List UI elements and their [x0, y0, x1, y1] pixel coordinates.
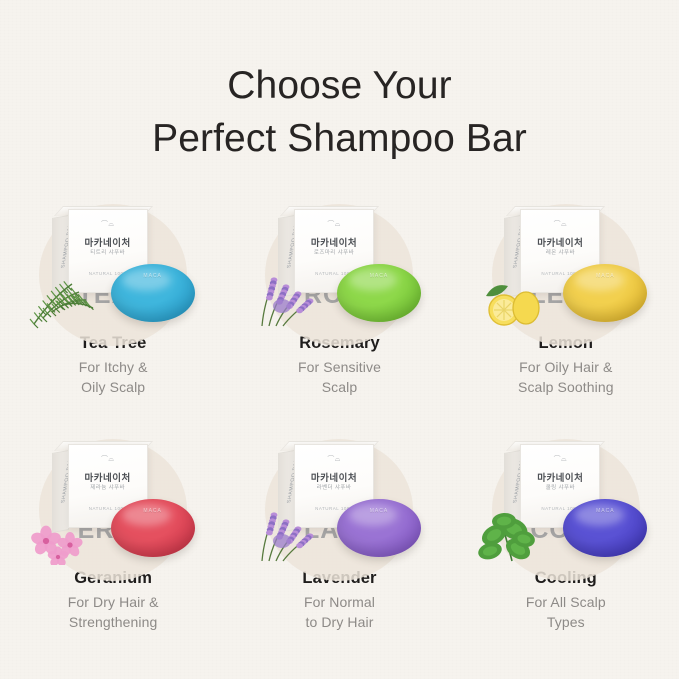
soap-emboss-text: MACA [111, 508, 195, 514]
product-description: For All Scalp Types [526, 593, 606, 633]
soap-emboss-text: MACA [337, 273, 421, 279]
box-variant-korean: 로즈마리 샤푸바 [295, 248, 373, 256]
brand-logo-mark: ⌒⌓ [521, 454, 599, 464]
product-image: COO SHAMPOO BAR ⌒⌓ 마카네이처 쿨링 샤푸바 NATURAL … [478, 441, 653, 563]
product-tile-lemon[interactable]: LEM SHAMPOO BAR ⌒⌓ 마카네이처 레몬 샤푸바 NATURAL … [453, 196, 679, 402]
brand-name-korean: 마카네이처 [69, 235, 147, 249]
soap-bar: MACA [111, 264, 195, 322]
product-desc-line-1: For Dry Hair & [68, 594, 159, 610]
product-desc-line-2: to Dry Hair [305, 614, 373, 630]
product-tile-cooling[interactable]: COO SHAMPOO BAR ⌒⌓ 마카네이처 쿨링 샤푸바 NATURAL … [453, 431, 679, 637]
soap-emboss-text: MACA [111, 273, 195, 279]
product-description: For Oily Hair & Scalp Soothing [518, 358, 614, 398]
soap-emboss-text: MACA [337, 508, 421, 514]
product-grid: TEA SHAMPOO BAR ⌒⌓ 마카네이처 티트리 샤푸바 NATURAL… [0, 196, 679, 637]
headline-line-1: Choose Your [227, 64, 451, 107]
product-tile-lavender[interactable]: LAVE SHAMPOO BAR ⌒⌓ 마카네이처 라벤더 샤푸바 NATURA… [226, 431, 452, 637]
product-description: For Dry Hair & Strengthening [68, 593, 159, 633]
product-image: TEA SHAMPOO BAR ⌒⌓ 마카네이처 티트리 샤푸바 NATURAL… [26, 206, 201, 328]
rosemary-sprig-icon [26, 266, 108, 330]
product-image: ERA SHAMPOO BAR ⌒⌓ 마카네이처 제라늄 샤푸바 NATURAL… [26, 441, 201, 563]
brand-name-korean: 마카네이처 [295, 235, 373, 249]
soap-bar: MACA [563, 499, 647, 557]
headline-line-2: Perfect Shampoo Bar [0, 113, 679, 166]
brand-name-korean: 마카네이처 [521, 470, 599, 484]
lemon-slice-icon [478, 266, 560, 330]
brand-logo-mark: ⌒⌓ [521, 219, 599, 229]
soap-emboss-text: MACA [563, 273, 647, 279]
product-image: ROSE SHAMPOO BAR ⌒⌓ 마카네이처 로즈마리 샤푸바 NATUR… [252, 206, 427, 328]
lavender-sprig-icon [252, 501, 334, 565]
box-variant-korean: 제라늄 샤푸바 [69, 483, 147, 491]
infographic-page: Choose Your Perfect Shampoo Bar TEA SHAM… [0, 0, 679, 679]
soap-bar: MACA [111, 499, 195, 557]
soap-bar: MACA [337, 499, 421, 557]
brand-name-korean: 마카네이처 [295, 470, 373, 484]
brand-name-korean: 마카네이처 [521, 235, 599, 249]
box-variant-korean: 레몬 샤푸바 [521, 248, 599, 256]
soap-bar: MACA [337, 264, 421, 322]
lavender-flower-icon [252, 266, 334, 330]
product-desc-line-2: Strengthening [69, 614, 157, 630]
product-tile-rosemary[interactable]: ROSE SHAMPOO BAR ⌒⌓ 마카네이처 로즈마리 샤푸바 NATUR… [226, 196, 452, 402]
brand-logo-mark: ⌒⌓ [295, 219, 373, 229]
box-variant-korean: 쿨링 샤푸바 [521, 483, 599, 491]
product-description: For Normal to Dry Hair [302, 593, 376, 633]
geranium-flower-icon [26, 501, 108, 565]
product-desc-line-1: For All Scalp [526, 594, 606, 610]
brand-logo-mark: ⌒⌓ [69, 454, 147, 464]
product-desc-line-1: For Oily Hair & [519, 359, 612, 375]
product-description: For Sensitive Scalp [298, 358, 381, 398]
soap-bar: MACA [563, 264, 647, 322]
brand-logo-mark: ⌒⌓ [295, 454, 373, 464]
brand-logo-mark: ⌒⌓ [69, 219, 147, 229]
page-title: Choose Your Perfect Shampoo Bar [0, 0, 679, 165]
product-desc-line-2: Types [547, 614, 585, 630]
box-variant-korean: 라벤더 샤푸바 [295, 483, 373, 491]
product-desc-line-2: Scalp Soothing [518, 379, 614, 395]
product-tile-geranium[interactable]: ERA SHAMPOO BAR ⌒⌓ 마카네이처 제라늄 샤푸바 NATURAL… [0, 431, 226, 637]
product-tile-tea-tree[interactable]: TEA SHAMPOO BAR ⌒⌓ 마카네이처 티트리 샤푸바 NATURAL… [0, 196, 226, 402]
soap-emboss-text: MACA [563, 508, 647, 514]
product-image: LEM SHAMPOO BAR ⌒⌓ 마카네이처 레몬 샤푸바 NATURAL … [478, 206, 653, 328]
product-desc-line-2: Oily Scalp [81, 379, 145, 395]
box-variant-korean: 티트리 샤푸바 [69, 248, 147, 256]
mint-leaf-icon [478, 501, 560, 565]
product-desc-line-1: For Normal [304, 594, 375, 610]
product-desc-line-2: Scalp [322, 379, 358, 395]
product-description: For Itchy & Oily Scalp [79, 358, 148, 398]
product-image: LAVE SHAMPOO BAR ⌒⌓ 마카네이처 라벤더 샤푸바 NATURA… [252, 441, 427, 563]
brand-name-korean: 마카네이처 [69, 470, 147, 484]
product-desc-line-1: For Sensitive [298, 359, 381, 375]
product-desc-line-1: For Itchy & [79, 359, 148, 375]
